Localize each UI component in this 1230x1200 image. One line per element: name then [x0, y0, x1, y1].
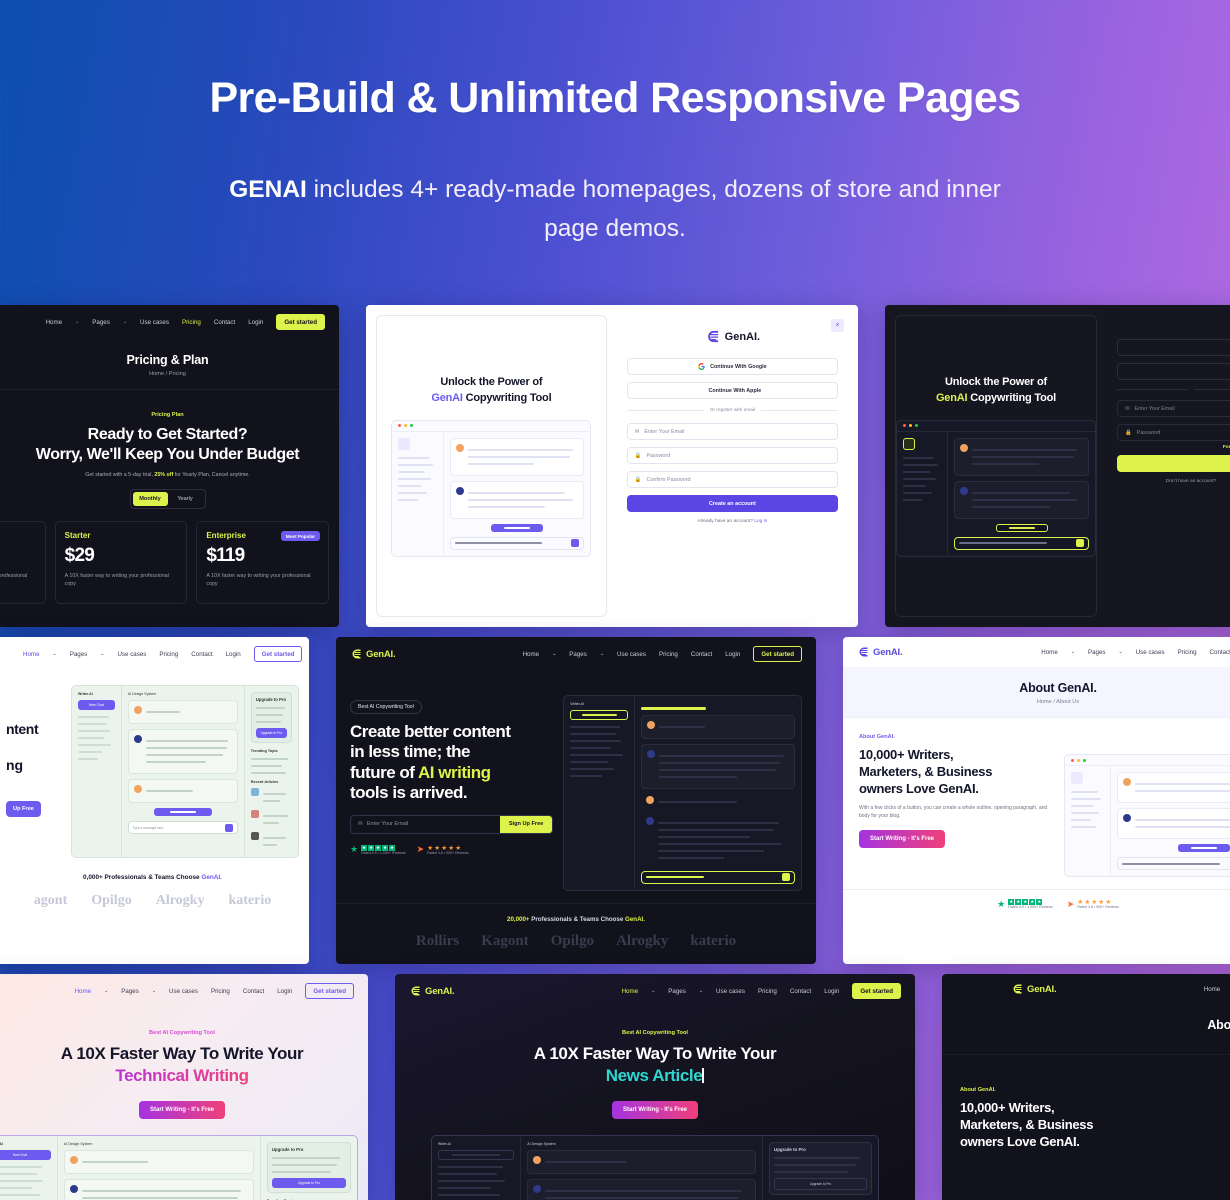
screenshot-row-1: Home⌄ Pages⌄ Use cases Pricing Contact L…: [0, 305, 1230, 627]
mail-icon: ✉: [1125, 406, 1130, 412]
breadcrumb: Pricing & Plan Home / Pricing: [0, 339, 339, 390]
doc-title: AI Design System: [527, 1142, 756, 1146]
social-proof: 0,000+ Professionals & Teams Choose GenA…: [0, 874, 309, 909]
get-started-button[interactable]: Get started: [276, 314, 325, 330]
chat-card: [1117, 808, 1230, 839]
mini-nav[interactable]: GenAI. Home⌄ Pages⌄ Use cases Pricing Co…: [395, 974, 915, 1008]
avatar: [70, 1156, 78, 1164]
demo-pricing-page[interactable]: Home⌄ Pages⌄ Use cases Pricing Contact L…: [0, 305, 339, 627]
regenerate-button[interactable]: [996, 524, 1048, 532]
nav-item-contact[interactable]: Contact: [191, 651, 212, 658]
home-heading-frag2: ng: [6, 757, 63, 773]
app-brand: Writer.AI: [570, 702, 628, 706]
app-rightbar: Upgrade to Pro Upgrade to Pro Trending T…: [260, 1136, 357, 1200]
breadcrumb-path: Home / About Us: [843, 699, 1230, 705]
minimize-dot-icon: [909, 424, 912, 427]
minimize-dot-icon: [404, 424, 407, 427]
avatar: [960, 487, 968, 495]
upgrade-button[interactable]: Upgrade to Pro: [256, 728, 287, 738]
avatar: [533, 1156, 541, 1164]
app-body: [1065, 766, 1230, 876]
plan-card[interactable]: Most Popular Enterprise $119 A 10X faste…: [196, 521, 329, 604]
chat-card: [128, 700, 238, 724]
heading-line-1: Create better content: [350, 722, 510, 741]
app-main: AI Design System: [521, 1136, 762, 1200]
nav-item-home[interactable]: Home: [46, 319, 63, 326]
modal-form-pane: ✉Enter Your Email 🔒Password Forgot Passw…: [1097, 305, 1230, 627]
email-signup-form[interactable]: ✉Enter Your Email Sign Up Free: [350, 815, 553, 834]
social-proof-text: 20,000+ Professionals & Teams Choose Gen…: [336, 916, 816, 923]
chat-card: [527, 1179, 756, 1200]
hero-brand: GENAI: [229, 176, 307, 203]
chat-card: [1117, 772, 1230, 803]
app-body: Writer.AI New Chat AI Design System: [72, 686, 298, 857]
upgrade-title: Upgrade to Pro: [774, 1147, 867, 1152]
nav-item-home[interactable]: Home: [622, 988, 639, 995]
chat-card: [954, 438, 1089, 476]
capterra-rating: ➤ ★★★★★Rated 4.8 • 900+ Reviews: [417, 845, 469, 855]
app-main: [1111, 766, 1230, 876]
create-account-button[interactable]: Create an account: [627, 495, 838, 512]
new-chat-button[interactable]: New Chat: [78, 700, 115, 710]
nav-item-home[interactable]: Home: [1204, 986, 1221, 993]
breadcrumb-title: Pricing & Plan: [0, 353, 339, 367]
text-caret: [702, 1068, 704, 1083]
app-logo-icon: [903, 438, 915, 450]
password-field[interactable]: 🔒Password: [1117, 424, 1230, 441]
footer-text: Already have an account?: [697, 519, 754, 524]
genai-logo-icon: [350, 648, 362, 660]
nav-item-pricing[interactable]: Pricing: [182, 319, 201, 326]
nav-item-pages[interactable]: Pages: [121, 988, 139, 995]
about-heading-3: owners Love GenAI.: [960, 1134, 1080, 1149]
hero-subtitle: GENAI includes 4+ ready-made homepages, …: [215, 170, 1015, 248]
plan-price: $9: [0, 545, 36, 567]
maximize-dot-icon: [410, 424, 413, 427]
avatar: [456, 444, 464, 452]
hero-heading: A 10X Faster Way To Write Your Technical…: [0, 1043, 368, 1087]
apple-label: Continue With Apple: [709, 388, 762, 394]
plan-desc: A 10X faster way to writing your profess…: [65, 573, 178, 589]
signup-modal: Unlock the Power of GenAI Copywriting To…: [366, 305, 858, 627]
app-sidebar: [1065, 766, 1111, 876]
avatar: [960, 444, 968, 452]
toggle-monthly[interactable]: Monthly: [133, 492, 168, 506]
hero-tag: Best AI Copywriting Tool: [350, 700, 422, 714]
doc-title: AI Design System: [128, 692, 238, 696]
nav-item-home[interactable]: Home: [75, 988, 92, 995]
capterra-icon: ➤: [417, 845, 425, 854]
confirm-placeholder: Confirm Password: [647, 477, 691, 483]
chat-card: [641, 794, 795, 810]
ratings-row: ★ ★★★★★Rated 4.9 • 1,000+ Reviews ➤ ★★★★…: [350, 845, 553, 855]
upgrade-card: Upgrade to Pro Upgrade to Pro: [251, 692, 292, 743]
demo-home-dark[interactable]: GenAI. Home⌄ Pages⌄ Use cases Pricing Co…: [336, 637, 816, 964]
breadcrumb-path: Home / Abou: [942, 1036, 1230, 1042]
chat-card: [527, 1150, 756, 1174]
trustpilot-star-icon: ★: [350, 845, 358, 854]
app-preview-window: Writer.AI AI Design System U: [431, 1135, 879, 1200]
email-placeholder: Enter Your Email: [644, 429, 684, 435]
new-chat-button[interactable]: [570, 710, 628, 720]
app-brand: Writer.AI: [78, 692, 115, 696]
pricing-heading-2: Worry, We'll Keep You Under Budget: [0, 445, 339, 465]
about-heading-3: owners Love GenAI.: [859, 781, 979, 796]
about-heading-1: 10,000+ Writers,: [859, 747, 953, 762]
hero-eyebrow: Best AI Copywriting Tool: [0, 1030, 368, 1036]
brand-logo-item: Opilgo: [91, 893, 131, 909]
lead-pre: Get started with a 5-day trial,: [85, 472, 154, 478]
trending-title: Trending Topic: [251, 749, 292, 753]
divider-label: Or register with email: [710, 408, 755, 413]
plan-cards: Basic $9 A 10X faster way to writing you…: [0, 521, 339, 604]
plan-desc: A 10X faster way to writing your profess…: [0, 573, 36, 589]
nav-item-use-cases[interactable]: Use cases: [117, 651, 146, 658]
social-proof-text: 0,000+ Professionals & Teams Choose GenA…: [0, 874, 309, 881]
app-sidebar: Writer.AI: [432, 1136, 521, 1200]
screenshot-row-2: Home⌄ Pages⌄ Use cases Pricing Contact L…: [0, 637, 1230, 964]
chat-card: [954, 481, 1089, 519]
regenerate-button[interactable]: [154, 808, 212, 816]
nav-item-use-cases[interactable]: Use cases: [1136, 649, 1165, 656]
nav-item-pages[interactable]: Pages: [92, 319, 110, 326]
thumbnail: [251, 810, 259, 818]
brand-logo-item: katerio: [228, 893, 271, 909]
modal-footer: Don't have an account?: [1117, 479, 1230, 484]
demo-news-article[interactable]: GenAI. Home⌄ Pages⌄ Use cases Pricing Co…: [395, 974, 915, 1200]
demo-home-light[interactable]: Home⌄ Pages⌄ Use cases Pricing Contact L…: [0, 637, 309, 964]
mini-nav[interactable]: Home⌄ Pages⌄ Use cases Pricing Contact L…: [0, 637, 309, 671]
nav-item-contact[interactable]: Contact: [790, 988, 811, 995]
avatar: [134, 785, 142, 793]
modal-title-line1: Unlock the Power of: [945, 376, 1047, 388]
heading-line-4: tools is arrived.: [350, 783, 467, 802]
avatar: [646, 817, 654, 825]
email-input[interactable]: ✉Enter Your Email: [351, 821, 500, 827]
continue-with-google-button[interactable]: [1117, 339, 1230, 356]
mini-nav[interactable]: Home⌄ Pages⌄ Use cases Pricing Contact L…: [0, 974, 368, 1008]
hero-section: Best AI Copywriting Tool A 10X Faster Wa…: [395, 1008, 915, 1119]
app-preview-window: [896, 420, 1096, 557]
plan-card[interactable]: Basic $9 A 10X faster way to writing you…: [0, 521, 46, 604]
nav-item-home[interactable]: Home: [523, 651, 540, 658]
nav-item-pricing[interactable]: Pricing: [758, 988, 777, 995]
divider: Or register with email: [627, 408, 838, 413]
pricing-heading-1: Ready to Get Started?: [0, 425, 339, 445]
google-icon: [698, 363, 705, 370]
demo-signup-modal[interactable]: Unlock the Power of GenAI Copywriting To…: [366, 305, 858, 627]
start-writing-button[interactable]: Start Writing - It's Free: [139, 1101, 225, 1119]
composer-input[interactable]: [1117, 857, 1230, 870]
modal-title-line1: Unlock the Power of: [440, 376, 542, 388]
send-icon[interactable]: [571, 539, 579, 547]
window-titlebar: [897, 421, 1095, 432]
app-body: Writer.AI New Chat AI Design System: [0, 1136, 357, 1200]
close-dot-icon: [398, 424, 401, 427]
brand-text: GenAI.: [366, 649, 395, 660]
brand-logos: Rollirs Kagont Opilgo Alrogky katerio: [336, 933, 816, 950]
breadcrumb-title: About Ge: [942, 1018, 1230, 1032]
social-text: Professionals & Teams Choose: [530, 916, 625, 923]
nav-item-use-cases[interactable]: Use cases: [169, 988, 198, 995]
brand-logo-item: Alrogky: [156, 893, 205, 909]
doc-title: AI Design System: [64, 1142, 254, 1146]
brand-logo: GenAI.: [857, 646, 902, 658]
close-dot-icon: [1071, 759, 1074, 762]
modal-title-rest: Copywriting Tool: [967, 392, 1056, 404]
toggle-yearly[interactable]: Yearly: [168, 492, 203, 506]
chat-card: [641, 815, 795, 866]
hero-copy: Best AI Copywriting Tool Create better c…: [350, 695, 553, 891]
confirm-password-field[interactable]: 🔒Confirm Password: [627, 471, 838, 488]
nav-item-pages[interactable]: Pages: [1088, 649, 1106, 656]
avatar: [647, 721, 655, 729]
demo-login-modal-dark[interactable]: Unlock the Power of GenAI Copywriting To…: [885, 305, 1230, 627]
send-icon[interactable]: [225, 824, 233, 832]
lock-icon: 🔒: [1125, 430, 1132, 436]
app-body: Writer.AI: [564, 696, 801, 890]
start-writing-button[interactable]: Start Writing - It's Free: [859, 830, 945, 848]
composer-input[interactable]: Type a message here: [128, 821, 238, 834]
composer-input[interactable]: [450, 537, 585, 550]
capterra-rating: ➤ ★★★★★Rated 4.8 • 900+ Reviews: [1067, 899, 1119, 909]
avatar: [1123, 778, 1131, 786]
app-sidebar: Writer.AI New Chat: [0, 1136, 58, 1200]
nav-item-pages[interactable]: Pages: [668, 988, 686, 995]
hero-header: Pre-Build & Unlimited Responsive Pages G…: [0, 0, 1230, 249]
nav-item-pricing[interactable]: Pricing: [1178, 649, 1197, 656]
composer-placeholder: Type a message here: [133, 826, 164, 830]
rating-label: Rated 4.8 • 900+ Reviews: [427, 851, 469, 855]
mini-nav[interactable]: GenAI. Home⌄ Pages⌄ Use cases Pricing Co…: [336, 637, 816, 671]
heading-line-3: future of: [350, 763, 418, 782]
nav-item-contact[interactable]: Contact: [214, 319, 235, 326]
app-sidebar: Writer.AI: [564, 696, 635, 890]
about-eyebrow: About GenAI.: [859, 734, 1052, 740]
maximize-dot-icon: [1083, 759, 1086, 762]
hero-eyebrow: Best AI Copywriting Tool: [395, 1030, 915, 1036]
chat-card: [641, 715, 795, 739]
social-brand: GenAI.: [625, 916, 645, 923]
email-field[interactable]: ✉Enter Your Email: [1117, 400, 1230, 417]
app-sidebar: [897, 432, 948, 556]
demo-about-light[interactable]: GenAI. Home⌄ Pages⌄ Use cases Pricing Co…: [843, 637, 1230, 964]
social-number: 20,000+: [507, 916, 530, 923]
hero-section: Best AI Copywriting Tool A 10X Faster Wa…: [0, 1008, 368, 1119]
billing-toggle[interactable]: Monthly Yearly: [130, 489, 206, 509]
mini-nav[interactable]: GenAI. Home⌄ Pages⌄ Use cases Pricing Co…: [843, 637, 1230, 667]
breadcrumb: About GenAI. Home / About Us: [843, 667, 1230, 718]
social-pre: 0,000+ Professionals & Teams Choose: [83, 874, 201, 881]
lead-post: for Yearly Plan, Cancel anytime.: [173, 472, 250, 478]
regenerate-button[interactable]: [491, 524, 543, 532]
nav-item-use-cases[interactable]: Use cases: [140, 319, 169, 326]
mini-nav[interactable]: Home⌄ Pages⌄ Use cases Pricing Contact L…: [0, 305, 339, 339]
modal-title-brand: GenAI: [936, 392, 967, 404]
new-chat-button[interactable]: [438, 1150, 514, 1160]
signup-free-button[interactable]: Sign Up Free: [500, 816, 553, 833]
app-main: [635, 696, 801, 890]
continue-with-apple-button[interactable]: [1117, 363, 1230, 380]
breadcrumb-path: Home / Pricing: [0, 371, 339, 377]
maximize-dot-icon: [915, 424, 918, 427]
app-preview-window: Writer.AI New Chat AI Design System: [71, 685, 299, 858]
app-sidebar: Writer.AI New Chat: [72, 686, 122, 857]
modal-form-pane: × GenAI. Continue With Google Continue W…: [607, 305, 858, 627]
nav-item-use-cases[interactable]: Use cases: [716, 988, 745, 995]
heading-line-2: in less time; the: [350, 742, 470, 761]
about-heading: 10,000+ Writers, Marketers, & Business o…: [960, 1099, 1230, 1150]
avatar: [456, 487, 464, 495]
brand-logo-item: Opilgo: [551, 933, 594, 950]
chat-card: [128, 729, 238, 774]
chat-card: [641, 744, 795, 789]
app-main: [948, 432, 1095, 556]
nav-item-login[interactable]: Login: [226, 651, 241, 658]
get-started-button[interactable]: Get started: [305, 983, 354, 999]
send-icon[interactable]: [1076, 539, 1084, 547]
avatar: [134, 706, 142, 714]
app-rightbar: Upgrade to Pro Upgrade to Pro Trending T…: [762, 1136, 878, 1200]
forgot-password-link[interactable]: Forgot Password?: [1117, 445, 1230, 450]
login-modal: Unlock the Power of GenAI Copywriting To…: [885, 305, 1230, 627]
app-logo-icon: [1071, 772, 1083, 784]
get-started-button[interactable]: Get started: [254, 646, 303, 662]
brand-logo-item: Rollirs: [416, 933, 459, 950]
brand-logo: GenAI.: [627, 329, 838, 344]
hero-heading: Create better content in less time; the …: [350, 722, 553, 804]
brand-logo-item: Alrogky: [616, 933, 668, 950]
composer-input[interactable]: [954, 537, 1089, 550]
app-main: AI Design System: [122, 686, 244, 857]
nav-item-pages[interactable]: Pages: [70, 651, 88, 658]
heading-line-1: A 10X Faster Way To Write Your: [61, 1044, 303, 1063]
upgrade-title: Upgrade to Pro: [256, 697, 287, 702]
upgrade-card: Upgrade to Pro Upgrade to Pro: [769, 1142, 872, 1195]
new-chat-button[interactable]: New Chat: [0, 1150, 51, 1160]
hero-subtitle-rest: includes 4+ ready-made homepages, dozens…: [307, 176, 1001, 242]
modal-title-brand: GenAI: [431, 392, 462, 404]
get-started-button[interactable]: Get started: [852, 983, 901, 999]
breadcrumb-title: About GenAI.: [843, 681, 1230, 695]
brand-logo: GenAI.: [1011, 983, 1056, 995]
nav-item-home[interactable]: Home: [1041, 649, 1058, 656]
password-placeholder: Password: [1137, 430, 1161, 436]
app-rightbar: Upgrade to Pro Upgrade to Pro Trending T…: [244, 686, 298, 857]
nav-item-use-cases[interactable]: Use cases: [617, 651, 646, 658]
continue-with-apple-button[interactable]: Continue With Apple: [627, 382, 838, 399]
app-main: AI Design System: [58, 1136, 260, 1200]
login-button[interactable]: [1117, 455, 1230, 472]
composer-input[interactable]: [641, 871, 795, 884]
nav-item-pricing[interactable]: Pricing: [159, 651, 178, 658]
pricing-lead: Get started with a 5-day trial, 25% off …: [0, 472, 339, 478]
chat-card: [450, 438, 585, 476]
plan-name: Starter: [65, 531, 178, 540]
app-preview-window: Writer.AI: [563, 695, 802, 891]
brand-text: GenAI.: [425, 986, 454, 997]
upgrade-title-text: Upgrade to Pro: [272, 1147, 304, 1152]
mail-icon: ✉: [358, 821, 363, 827]
nav-item-pricing[interactable]: Pricing: [659, 651, 678, 658]
plan-card[interactable]: Starter $29 A 10X faster way to writing …: [55, 521, 188, 604]
nav-item-login[interactable]: Login: [248, 319, 263, 326]
lock-icon: 🔒: [635, 477, 642, 483]
home-heading-frag1: ntent: [6, 721, 63, 737]
window-titlebar: [392, 421, 590, 432]
about-content: About GenAI. 10,000+ Writers, Marketers,…: [843, 718, 1230, 877]
start-writing-button[interactable]: Start Writing - It's Free: [612, 1101, 698, 1119]
nav-item-login[interactable]: Login: [824, 988, 839, 995]
about-heading: 10,000+ Writers, Marketers, & Business o…: [859, 746, 1052, 797]
thumbnail: [251, 788, 259, 796]
genai-logo-icon: [857, 646, 869, 658]
avatar: [134, 735, 142, 743]
nav-item-pricing[interactable]: Pricing: [211, 988, 230, 995]
chat-card: [128, 779, 238, 803]
get-started-button[interactable]: Get started: [753, 646, 802, 662]
app-preview-window: Writer.AI New Chat AI Design System: [0, 1135, 358, 1200]
upgrade-button[interactable]: Upgrade to Pro: [272, 1178, 346, 1188]
page-title: Pre-Build & Unlimited Responsive Pages: [0, 74, 1230, 122]
avatar: [647, 750, 655, 758]
close-icon[interactable]: ×: [831, 319, 844, 332]
nav-item-login[interactable]: Login: [725, 651, 740, 658]
upgrade-button[interactable]: Upgrade to Pro: [774, 1178, 867, 1190]
avatar: [533, 1185, 541, 1193]
modal-footer: Already have an account? Log in: [627, 519, 838, 524]
demo-about-dark[interactable]: GenAI. Home⌄ Pages About Ge Home / Abou …: [942, 974, 1230, 1200]
brand-logo: GenAI.: [409, 985, 454, 997]
email-placeholder: Enter Your Email: [1135, 406, 1175, 412]
ratings-row: ★ ★★★★★Rated 4.9 • 1,000+ Reviews ➤ ★★★★…: [843, 889, 1230, 909]
hero-heading: A 10X Faster Way To Write Your News Arti…: [395, 1043, 915, 1087]
regenerate-button[interactable]: [1178, 844, 1230, 852]
app-body: [392, 432, 590, 556]
modal-title-rest: Copywriting Tool: [463, 392, 552, 404]
genai-logo-icon: [705, 329, 720, 344]
brand-logo-item: katerio: [690, 933, 736, 950]
upgrade-card: Upgrade to Pro Upgrade to Pro: [267, 1142, 351, 1193]
nav-item-login[interactable]: Login: [277, 988, 292, 995]
continue-with-google-button[interactable]: Continue With Google: [627, 358, 838, 375]
nav-item-pages[interactable]: Pages: [569, 651, 587, 658]
brand-logo-item: agont: [34, 893, 67, 909]
screenshot-row-3: Home⌄ Pages⌄ Use cases Pricing Contact L…: [0, 974, 1230, 1200]
nav-item-contact[interactable]: Contact: [243, 988, 264, 995]
nav-item-contact[interactable]: Contact: [691, 651, 712, 658]
signup-free-button[interactable]: Up Free: [6, 801, 41, 817]
send-icon[interactable]: [782, 873, 790, 881]
about-body: With a few clicks of a button, you can c…: [859, 804, 1052, 820]
login-link[interactable]: Log in: [754, 519, 767, 524]
screenshot-grid: Home⌄ Pages⌄ Use cases Pricing Contact L…: [0, 305, 1230, 1200]
app-body: Writer.AI AI Design System U: [432, 1136, 878, 1200]
rating-label: Rated 4.9 • 1,000+ Reviews: [1008, 905, 1053, 909]
trustpilot-rating: ★ ★★★★★Rated 4.9 • 1,000+ Reviews: [997, 899, 1053, 909]
app-brand: Writer.AI: [438, 1142, 514, 1146]
about-eyebrow: About GenAI.: [960, 1087, 1230, 1093]
demo-technical-writing[interactable]: Home⌄ Pages⌄ Use cases Pricing Contact L…: [0, 974, 368, 1200]
email-field[interactable]: ✉Enter Your Email: [627, 423, 838, 440]
nav-item-contact[interactable]: Contact: [1210, 649, 1230, 656]
nav-item-home[interactable]: Home: [23, 651, 40, 658]
app-brand: Writer.AI: [0, 1142, 51, 1146]
password-field[interactable]: 🔒Password: [627, 447, 838, 464]
plan-price: $29: [65, 545, 178, 567]
brand-text: GenAI.: [725, 331, 760, 343]
mini-nav[interactable]: GenAI. Home⌄ Pages: [942, 974, 1230, 1004]
